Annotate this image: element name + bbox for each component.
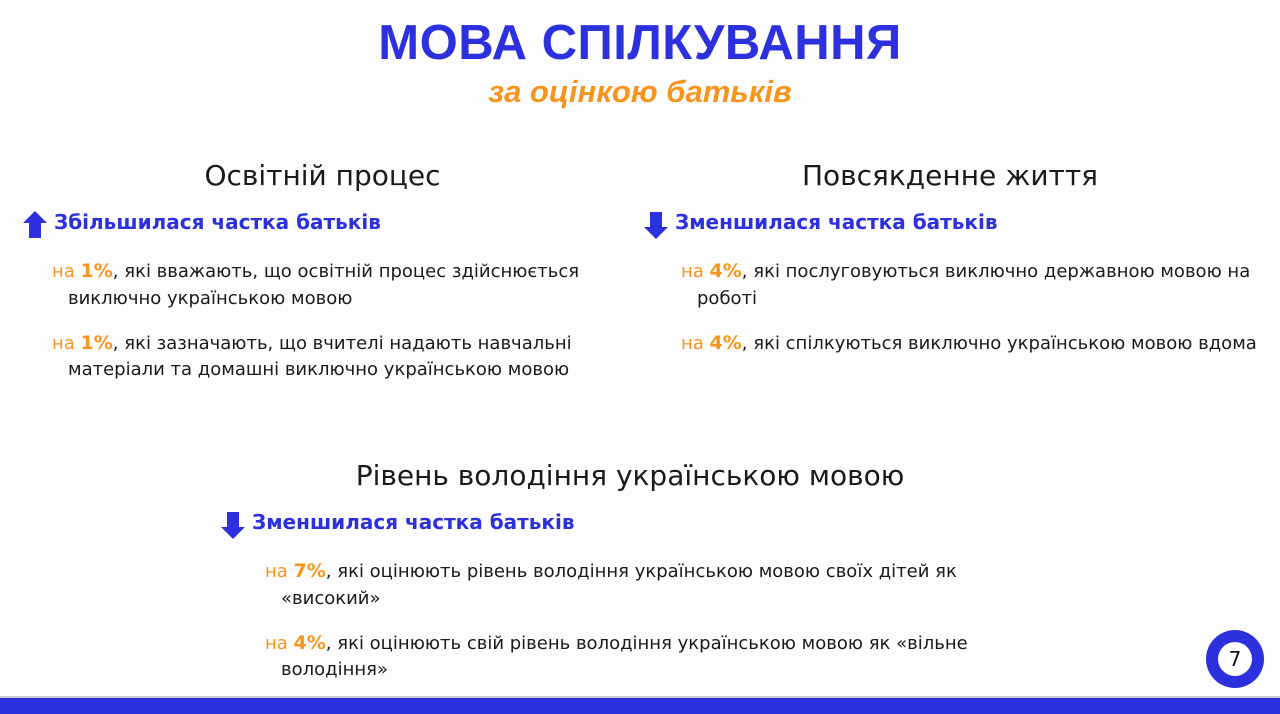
item-text: , які оцінюють рівень володіння українсь…	[281, 561, 957, 609]
item-text: , які оцінюють свій рівень володіння укр…	[281, 633, 968, 681]
percent-prefix: на	[681, 333, 710, 354]
item-text: , які зазначають, що вчителі надають нав…	[68, 333, 572, 381]
lead-text-language-proficiency: Зменшилася частка батьків	[252, 510, 575, 535]
list-item: на 4%, які оцінюють свій рівень володінн…	[215, 630, 1045, 684]
percent-prefix: на	[681, 261, 710, 282]
arrow-down-icon	[220, 510, 246, 540]
lead-line-everyday-life: Зменшилася частка батьків	[643, 210, 1265, 240]
section-education: Освітній процес Збільшилася частка батьк…	[10, 160, 635, 384]
list-item: на 4%, які спілкуються виключно українсь…	[635, 330, 1265, 358]
percent-value: 7%	[294, 560, 326, 582]
items-language-proficiency: на 7%, які оцінюють рівень володіння укр…	[215, 558, 1045, 683]
percent-prefix: на	[52, 261, 81, 282]
percent-badge: на 4%	[681, 333, 742, 354]
percent-badge: на 1%	[52, 333, 113, 354]
page-number-badge: 7	[1206, 630, 1264, 688]
percent-prefix: на	[52, 333, 81, 354]
items-everyday-life: на 4%, які послуговуються виключно держа…	[635, 258, 1265, 357]
section-language-proficiency: Рівень володіння українською мовою Зменш…	[215, 460, 1045, 684]
lead-line-language-proficiency: Зменшилася частка батьків	[220, 510, 1045, 540]
slide-subtitle: за оцінкою батьків	[0, 75, 1280, 109]
lead-line-education: Збільшилася частка батьків	[22, 210, 635, 240]
page-number-label: 7	[1218, 642, 1252, 676]
item-text: , які спілкуються виключно українською м…	[742, 333, 1257, 354]
percent-badge: на 1%	[52, 261, 113, 282]
percent-prefix: на	[265, 633, 294, 654]
section-heading-everyday-life: Повсякденне життя	[635, 160, 1265, 192]
list-item: на 4%, які послуговуються виключно держа…	[635, 258, 1265, 312]
items-education: на 1%, які вважають, що освітній процес …	[10, 258, 635, 383]
percent-badge: на 4%	[265, 633, 326, 654]
list-item: на 1%, які вважають, що освітній процес …	[10, 258, 635, 312]
footer-bar	[0, 698, 1280, 714]
percent-value: 1%	[81, 332, 113, 354]
title-block: МОВА СПІЛКУВАННЯ за оцінкою батьків	[0, 18, 1280, 110]
section-body-everyday-life: Зменшилася частка батьків на 4%, які пос…	[635, 210, 1265, 357]
arrow-up-icon	[22, 210, 48, 240]
percent-value: 4%	[294, 632, 326, 654]
section-body-language-proficiency: Зменшилася частка батьків на 7%, які оці…	[215, 510, 1045, 683]
section-everyday-life: Повсякденне життя Зменшилася частка бать…	[635, 160, 1265, 358]
percent-value: 4%	[710, 332, 742, 354]
list-item: на 1%, які зазначають, що вчителі надают…	[10, 330, 635, 384]
percent-prefix: на	[265, 561, 294, 582]
arrow-down-icon	[643, 210, 669, 240]
section-heading-language-proficiency: Рівень володіння українською мовою	[215, 460, 1045, 492]
section-body-education: Збільшилася частка батьків на 1%, які вв…	[10, 210, 635, 383]
item-text: , які послуговуються виключно державною …	[697, 261, 1250, 309]
slide-title: МОВА СПІЛКУВАННЯ	[0, 18, 1280, 69]
section-heading-education: Освітній процес	[10, 160, 635, 192]
item-text: , які вважають, що освітній процес здійс…	[68, 261, 579, 309]
percent-value: 1%	[81, 260, 113, 282]
lead-text-education: Збільшилася частка батьків	[54, 210, 381, 235]
lead-text-everyday-life: Зменшилася частка батьків	[675, 210, 998, 235]
percent-badge: на 4%	[681, 261, 742, 282]
percent-value: 4%	[710, 260, 742, 282]
list-item: на 7%, які оцінюють рівень володіння укр…	[215, 558, 1045, 612]
percent-badge: на 7%	[265, 561, 326, 582]
slide-root: МОВА СПІЛКУВАННЯ за оцінкою батьків Осві…	[0, 0, 1280, 714]
